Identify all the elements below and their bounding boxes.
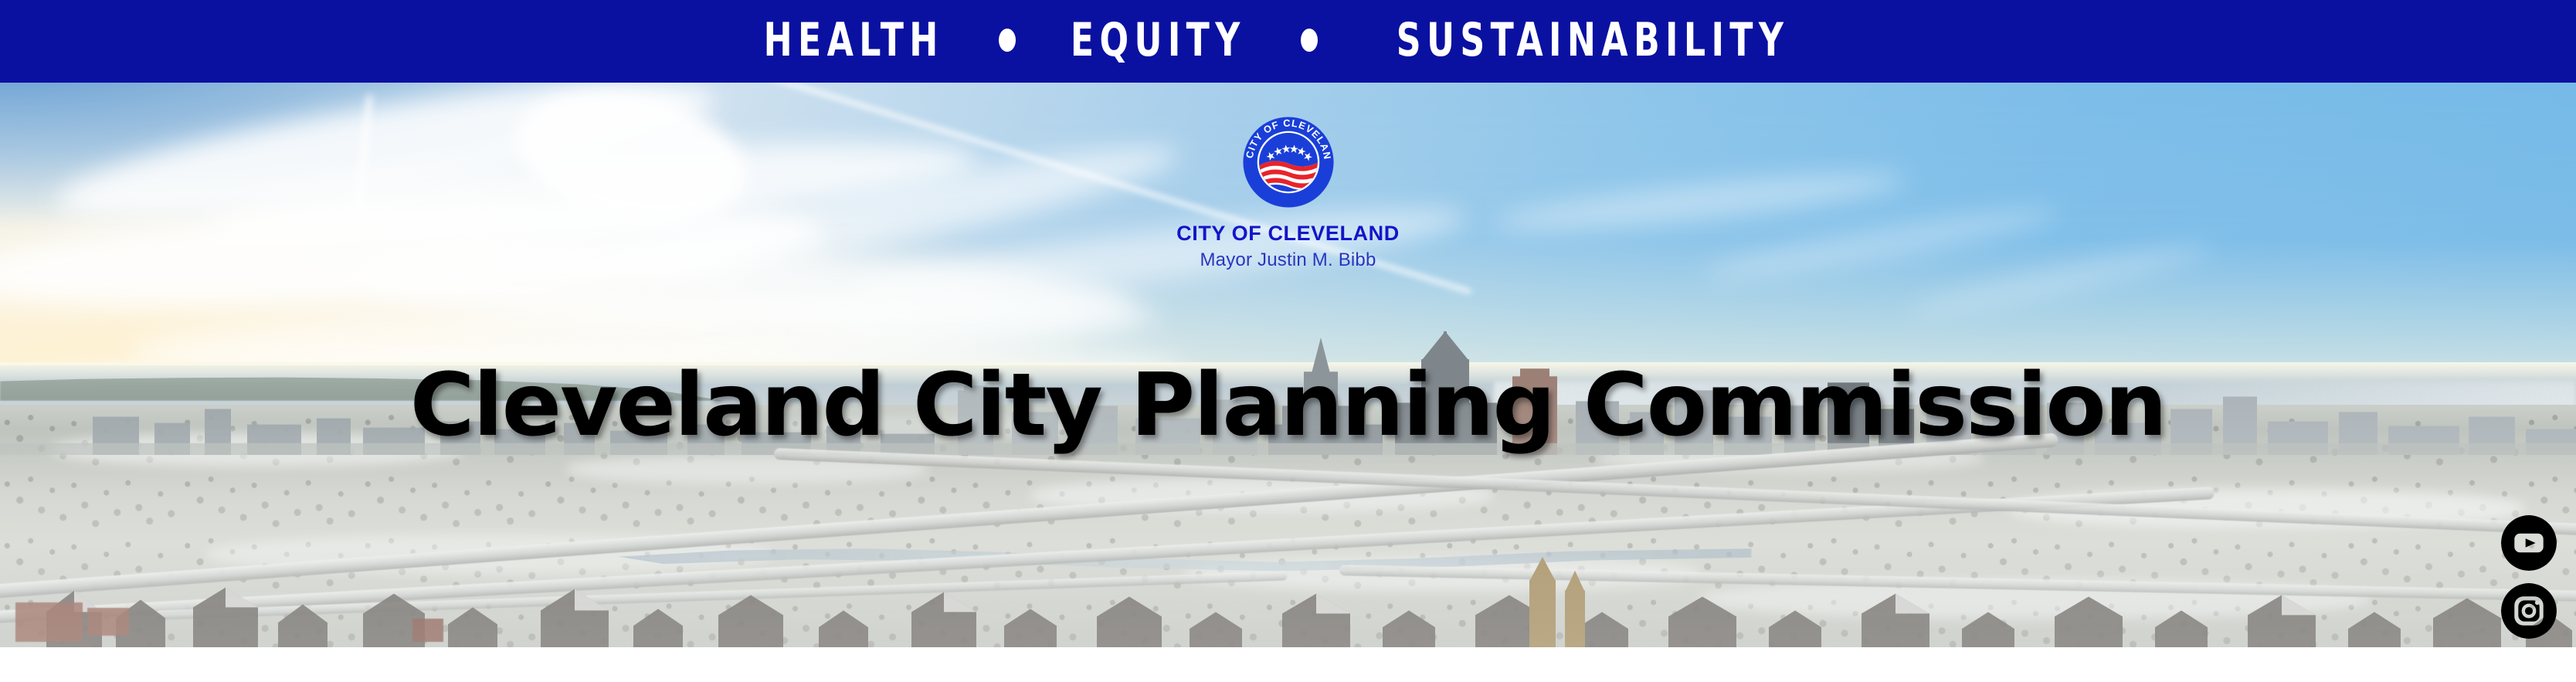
value-word-equity: EQUITY xyxy=(1071,17,1246,63)
value-separator-dot-1 xyxy=(999,29,1016,52)
value-word-sustainability: SUSTAINABILITY xyxy=(1397,17,1790,63)
foreground-rooftops xyxy=(0,557,2576,647)
city-identity-block: CITY OF CLEVELAND OHIO xyxy=(0,83,2576,270)
youtube-icon[interactable] xyxy=(2501,515,2557,571)
bottom-white-strip xyxy=(0,647,2576,682)
instagram-icon[interactable] xyxy=(2501,583,2557,639)
brick-building xyxy=(15,602,83,642)
city-of-cleveland-seal-icon: CITY OF CLEVELAND OHIO xyxy=(1241,115,1336,209)
value-word-health: HEALTH xyxy=(764,17,944,63)
brick-building xyxy=(412,619,443,641)
mayor-name: Mayor Justin M. Bibb xyxy=(1200,251,1376,270)
value-separator-dot-2 xyxy=(1301,29,1318,52)
page-title: Cleveland City Planning Commission xyxy=(410,362,2166,449)
org-name: CITY OF CLEVELAND xyxy=(1176,223,1400,244)
social-links xyxy=(2501,515,2557,647)
value-banner: HEALTH EQUITY SUSTAINABILITY xyxy=(0,0,2576,83)
value-banner-inner: HEALTH EQUITY SUSTAINABILITY xyxy=(744,17,1832,63)
hero-photo-region: CITY OF CLEVELAND OHIO xyxy=(0,83,2576,647)
brick-building xyxy=(87,608,128,636)
page-root: HEALTH EQUITY SUSTAINABILITY xyxy=(0,0,2576,682)
